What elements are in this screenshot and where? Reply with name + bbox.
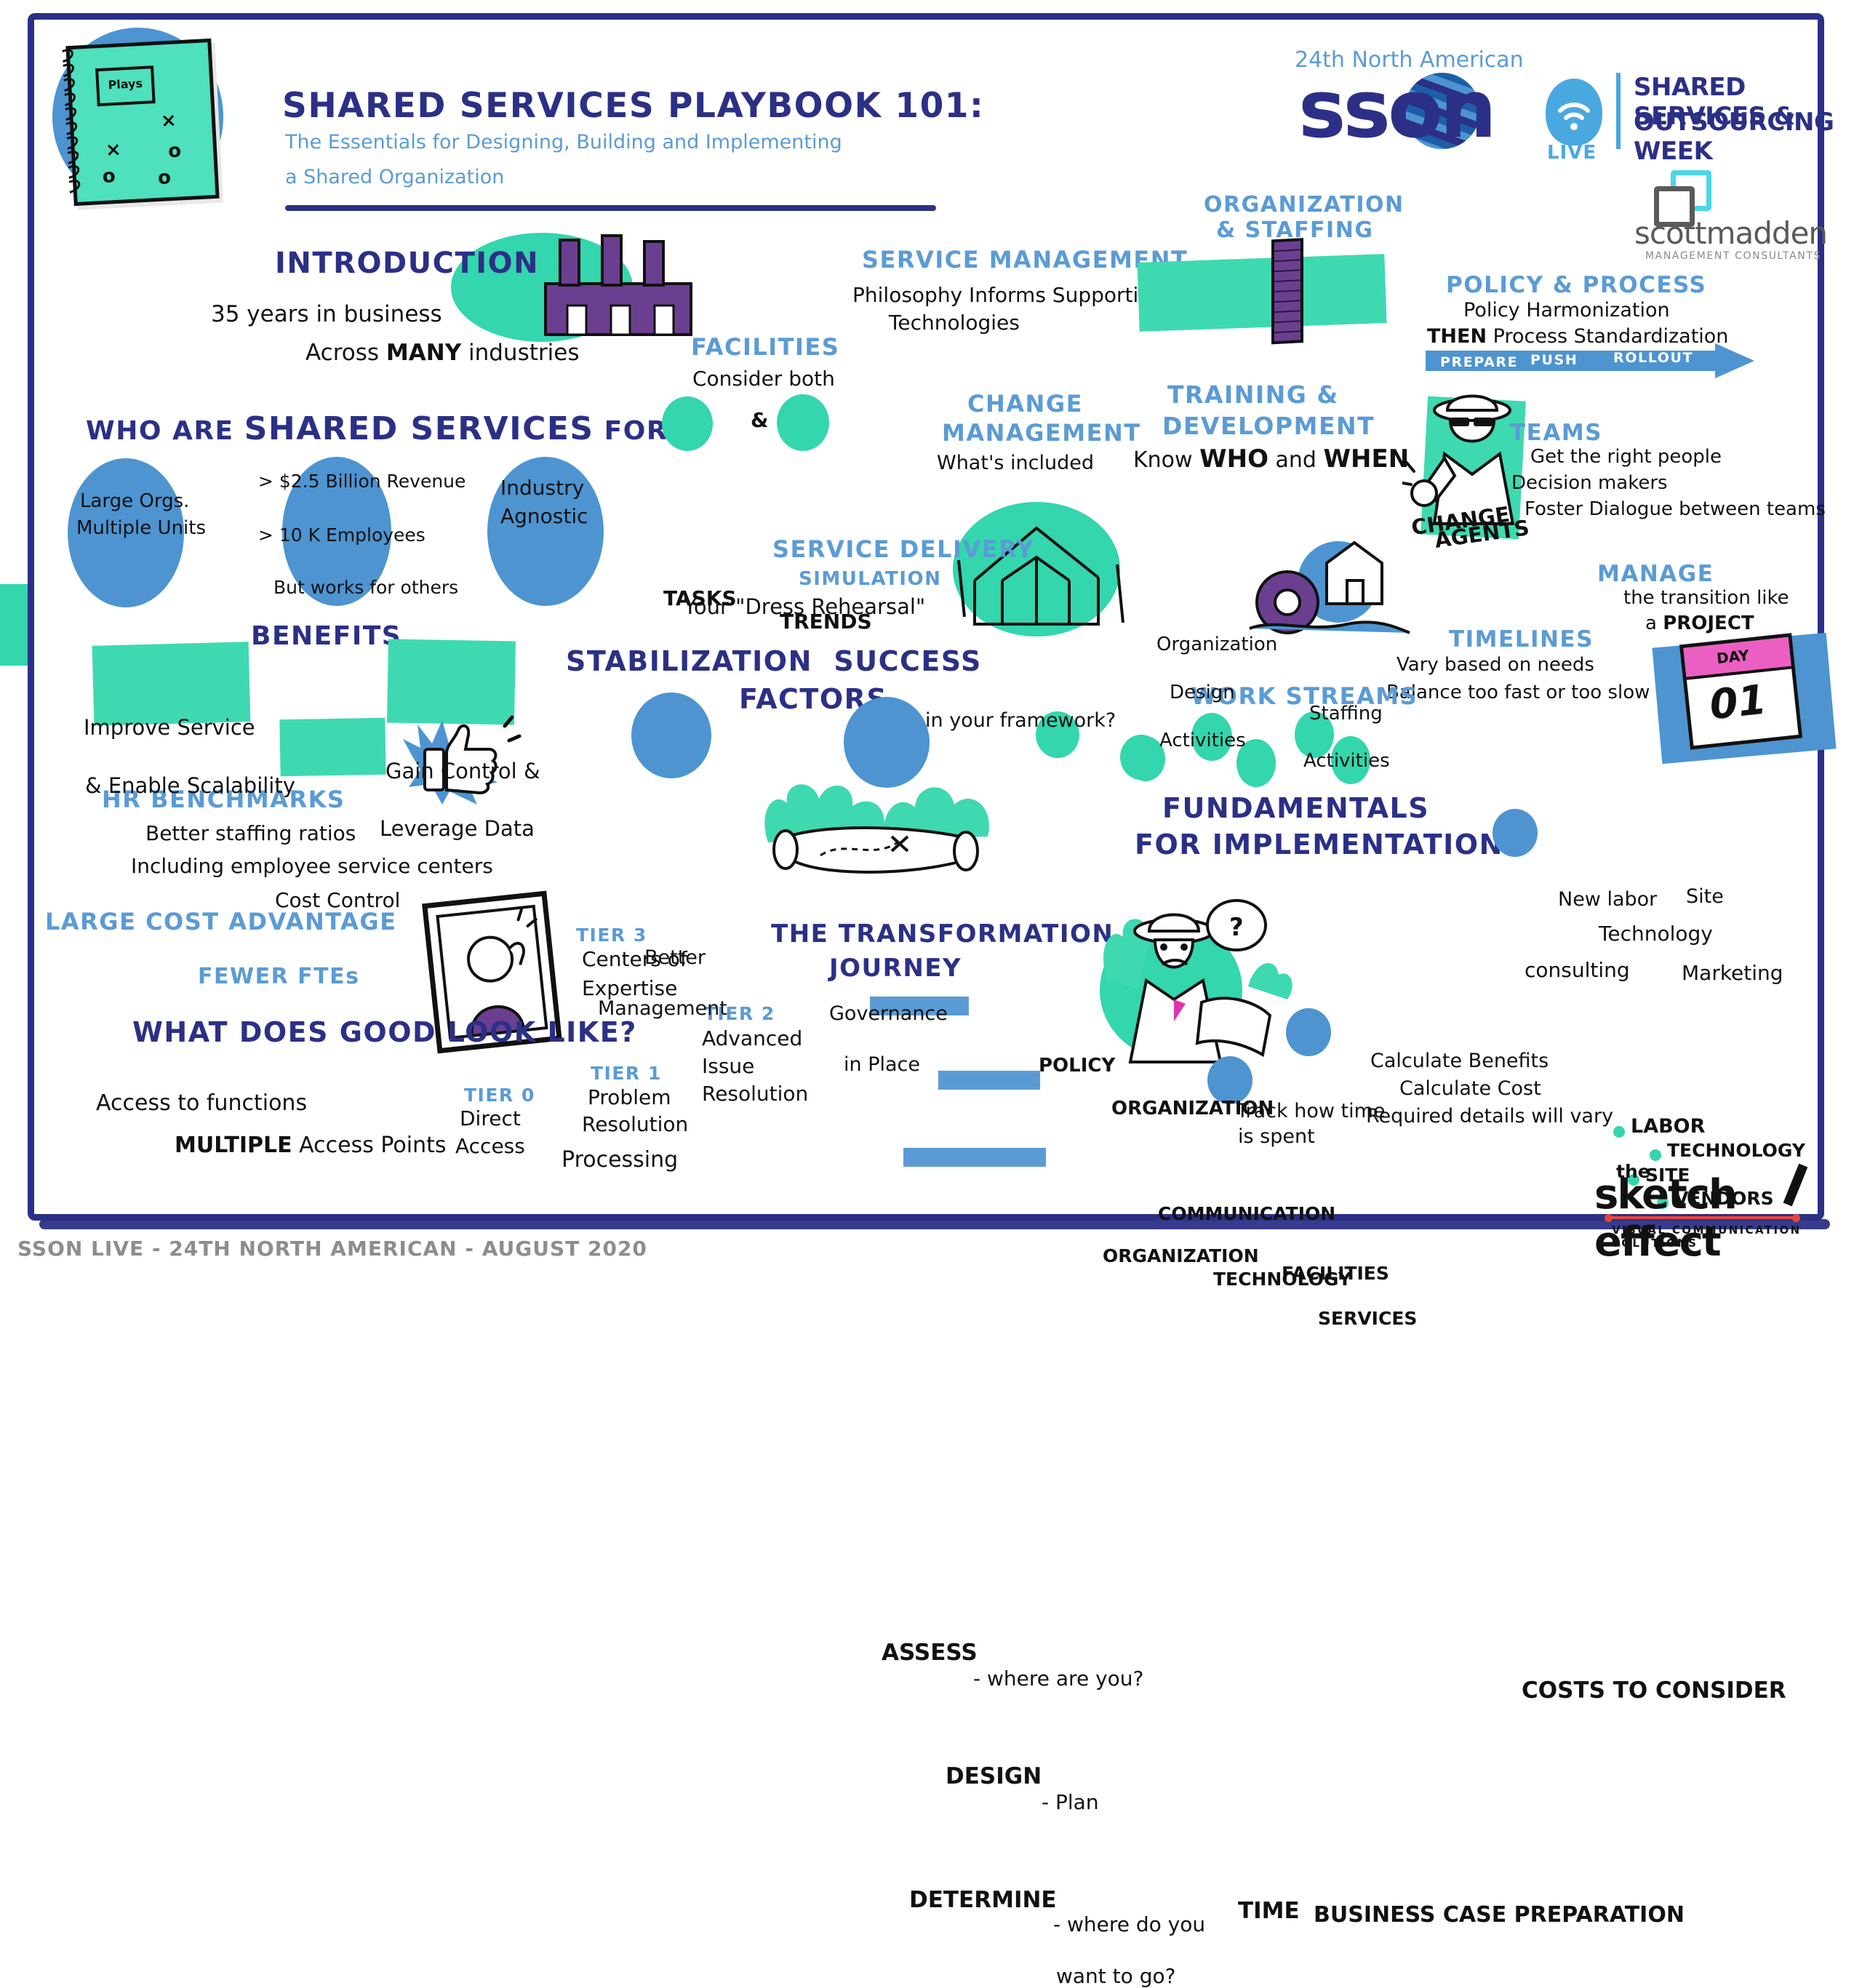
journey-step-design-desc: - Plan [1042,1791,1862,1813]
playbook-label-box: Plays [95,65,156,106]
org-design-line1: Organization [1156,634,1862,655]
tier-1-line1: Problem [588,1086,671,1109]
scottmadden-tagline: MANAGEMENT CONSULTANTS [1645,250,1821,262]
introduction-line1: 35 years in business [211,302,442,327]
org-staffing-highlight [1137,254,1386,332]
policy-process-heading: POLICY & PROCESS [1446,273,1706,298]
who-for-heading: WHO ARE SHARED SERVICES FOR? [86,411,684,447]
footer-caption: SSON LIVE - 24TH NORTH AMERICAN - AUGUST… [17,1237,647,1261]
change-management-heading-line2: MANAGEMENT [942,420,1141,447]
play-o-1: o [167,140,181,162]
who-for-bullet-1: > $2.5 Billion Revenue [258,471,1862,492]
title-underline [285,205,936,211]
time-line2: is spent [1238,1126,1315,1148]
policy-arrow-step-2: PUSH [1530,353,1578,368]
journey-step-design-label: DESIGN [946,1764,1862,1789]
tier-0-line1: Direct [460,1107,521,1130]
tier-1-label: TIER 1 [591,1063,662,1084]
bullet-technology-label: TECHNOLOGY [1667,1141,1805,1161]
bubble-better-management-line1: Better [644,947,1862,969]
tower-icon [1263,234,1314,351]
chip-trends-label: TRENDS [780,610,1862,633]
tier-2-line2: Issue [702,1055,754,1077]
benefits-item3: Cost Control [275,889,1862,911]
sson-live-badge: LIVE [1547,142,1597,164]
what-good-line1: Access to functions [96,1091,307,1116]
sson-tagline-line2: OUTSOURCING WEEK [1634,108,1862,166]
tier-3-label: TIER 3 [576,925,647,946]
chip-services-label: SERVICES [1318,1309,1862,1329]
chip-trends-blob [777,394,829,451]
hr-benchmarks-line2: Including employee service centers [131,855,493,877]
policy-process-line1: Policy Harmonization [1463,300,1670,322]
bubble-large-orgs-line2: Multiple Units [76,518,206,539]
introduction-heading: INTRODUCTION [275,247,539,280]
teams-heading: TEAMS [1510,420,1602,446]
policy-arrow-step-1: PREPARE [1440,355,1518,370]
bubble-industry-line2: Agnostic [500,505,588,527]
play-x-1: × [160,110,177,132]
play-o-2: o [102,165,116,188]
tier-1-line2: Resolution [582,1113,688,1135]
page-subtitle-line2: a Shared Organization [285,166,504,188]
chip-communication-label: COMMUNICATION [1158,1204,1862,1224]
staffing-activities-line2: Activities [1303,751,1862,772]
policy-arrow-step-3: ROLLOUT [1613,351,1693,366]
introduction-line2: Across MANY industries [305,340,579,366]
facilities-ampersand: & [751,409,768,431]
service-management-line1: Philosophy Informs Supporting [852,284,1164,306]
transformation-heading-line1: THE TRANSFORMATION [771,920,1114,948]
costs-to-consider-heading: COSTS TO CONSIDER [1522,1678,1862,1704]
determine-highlight [903,1148,1046,1167]
play-o-3: o [157,167,171,189]
tier-1-line3: Processing [562,1148,678,1173]
fewer-ftes-label: FEWER FTEs [198,965,359,989]
tier-2-line3: Resolution [702,1082,808,1105]
factory-icon [538,225,698,342]
page-subtitle-line1: The Essentials for Designing, Building a… [285,131,842,153]
sson-divider [1616,73,1621,149]
tier-0-line2: Access [455,1135,525,1157]
tier-2-line1: Advanced [702,1027,802,1050]
chip-organization-label: ORGANIZATION [1111,1098,1862,1119]
training-line: Know WHO and WHEN [1133,445,1409,473]
teams-line3: Foster Dialogue between teams [1525,499,1826,520]
chip-facilities-label: FACILITIES [1282,1264,1862,1284]
play-x-2: × [105,139,121,161]
svg-text:?: ? [1229,913,1244,942]
bubble-governance-line1: Governance [829,1003,1862,1025]
tier-3-line2: Expertise [582,977,677,999]
benefits-item2-line2: Leverage Data [380,817,1862,840]
service-management-line2: Technologies [889,311,1020,334]
explorer-icon: ? [1075,893,1293,1075]
bullet-labor-dot [1613,1126,1625,1138]
what-good-heading: WHAT DOES GOOD LOOK LIKE? [132,1017,637,1048]
facilities-heading: FACILITIES [691,335,839,361]
wifi-icon [1546,79,1602,145]
chip-tasks-blob [662,396,713,451]
what-good-line2: MULTIPLE Access Points [175,1133,446,1158]
training-heading-line1: TRAINING & [1167,382,1339,409]
chip-tasks-label: TASKS [663,587,1862,610]
bubble-large-orgs-line1: Large Orgs. [80,491,189,512]
benefits-heading: BENEFITS [251,622,401,651]
business-case-heading: BUSINESS CASE PREPARATION [1314,1903,1862,1928]
bullet-technology-dot [1650,1149,1661,1161]
scottmadden-wordmark: scottmadden [1634,215,1827,251]
benefits-highlight-1 [92,642,251,726]
chip-policy-label: POLICY [1039,1055,1862,1077]
playbook-icon: Plays × × o o o [65,39,219,206]
page-title: SHARED SERVICES PLAYBOOK 101: [282,86,984,126]
journey-step-determine-desc2: want to go? [1056,1965,1862,1987]
hr-benchmarks-line1: Better staffing ratios [145,822,356,845]
staffing-activities-line1: Staffing [1309,703,1862,724]
organization-staffing-heading-line1: ORGANIZATION [1204,193,1405,217]
training-heading-line2: DEVELOPMENT [1162,413,1375,440]
timelines-line1: Vary based on needs [1396,655,1594,676]
who-for-bullet-2: > 10 K Employees [258,525,1862,546]
teams-line1: Get the right people [1530,447,1722,468]
facilities-line1: Consider both [692,367,835,390]
org-design-line2: Design [1170,682,1862,703]
large-cost-advantage-heading: LARGE COST ADVANTAGE [45,909,396,935]
cost-item-technology: Technology [1599,922,1713,945]
change-management-heading-line1: CHANGE [967,391,1083,418]
playbook-label-text: Plays [98,68,152,100]
tier-0-label: TIER 0 [464,1085,535,1106]
org-design-line3: Activities [1159,730,1862,751]
business-case-line2: Calculate Cost [1399,1078,1541,1100]
journey-step-assess-label: ASSESS [882,1640,1862,1666]
stabilization-heading-line1: STABILIZATION SUCCESS [566,646,982,677]
sson-wordmark: sson [1298,69,1494,149]
